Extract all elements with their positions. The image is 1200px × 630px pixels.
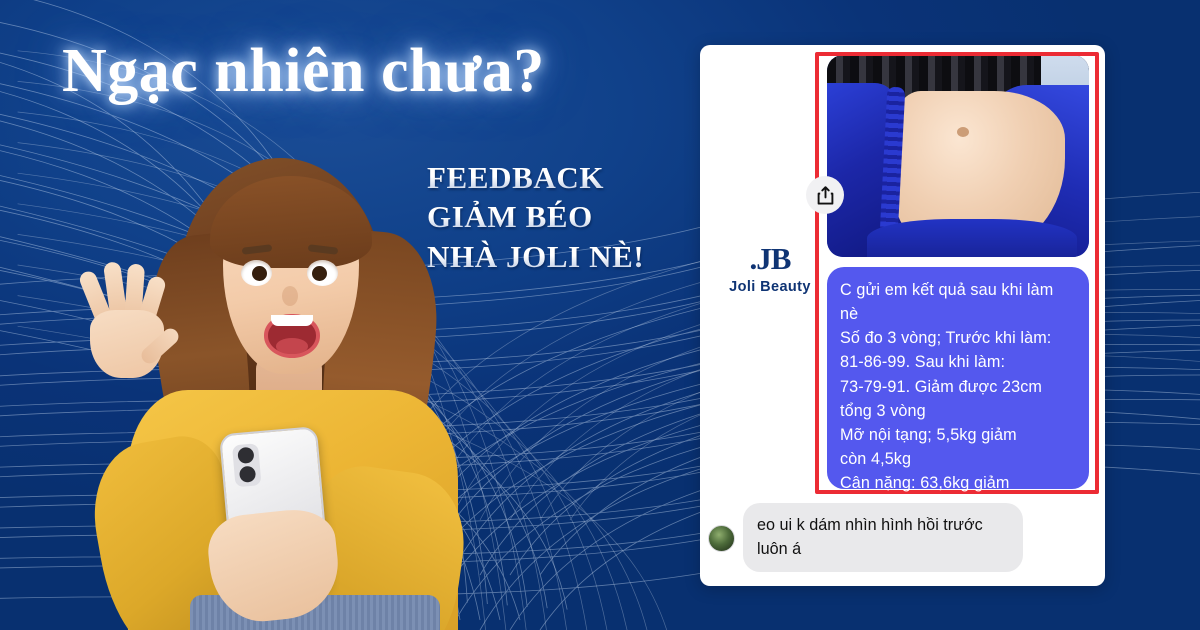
- brand-name: Joli Beauty: [714, 279, 826, 295]
- teeth: [271, 315, 313, 326]
- sent-line: 73-79-91. Giảm được 23cm: [840, 375, 1076, 399]
- surprised-woman-photo: [60, 140, 510, 630]
- received-message-row: eo ui k dám nhìn hình hồi trước luôn á: [708, 503, 1103, 572]
- phone-camera-module: [232, 443, 262, 487]
- sent-line: C gửi em kết quả sau khi làm nè: [840, 278, 1076, 326]
- avatar[interactable]: [708, 525, 735, 552]
- page-title: Ngạc nhiên chưa?: [62, 36, 545, 107]
- chat-screenshot-panel: .JB Joli Beauty C gửi em kết quả: [700, 45, 1105, 586]
- pupil-right: [312, 266, 327, 281]
- nose: [282, 286, 298, 306]
- sent-line: tổng 3 vòng: [840, 399, 1076, 423]
- sent-line: Mỡ nội tạng; 5,5kg giảm: [840, 423, 1076, 447]
- blue-velvet-bottom: [867, 219, 1077, 257]
- received-message-bubble[interactable]: eo ui k dám nhìn hình hồi trước luôn á: [743, 503, 1023, 572]
- sent-line: Cân nặng: 63,6kg giảm: [840, 471, 1076, 495]
- sent-line: còn 4,5kg: [840, 447, 1076, 471]
- navel: [957, 127, 969, 137]
- share-icon[interactable]: [806, 176, 844, 214]
- raised-open-hand: [78, 262, 174, 380]
- sent-message-bubble[interactable]: C gửi em kết quả sau khi làm nè Số đo 3 …: [827, 267, 1089, 489]
- sent-line: 81-86-99. Sau khi làm:: [840, 350, 1076, 374]
- promo-banner: Ngạc nhiên chưa? FEEDBACK GIẢM BÉO NHÀ J…: [0, 0, 1200, 630]
- tongue: [276, 338, 308, 354]
- before-photo-message[interactable]: [827, 55, 1089, 257]
- brand-logo: .JB Joli Beauty: [714, 243, 826, 295]
- share-upload-glyph: [817, 186, 834, 205]
- sent-line: Số đo 3 vòng; Trước khi làm:: [840, 326, 1076, 350]
- pupil-left: [252, 266, 267, 281]
- brand-monogram: .JB: [714, 243, 826, 274]
